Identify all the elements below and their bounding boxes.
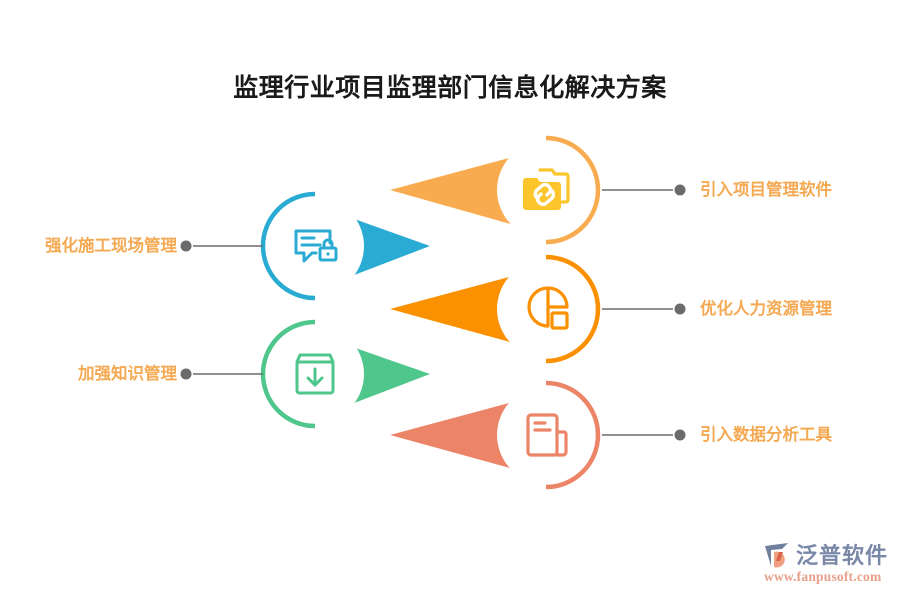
logo-url: www.fanpusoft.com — [764, 569, 881, 585]
circle-body-salmon — [497, 386, 595, 484]
label-left-1: 强化施工现场管理 — [45, 238, 177, 255]
connector-left-2 — [181, 369, 264, 380]
label-right-2: 优化人力资源管理 — [700, 301, 832, 318]
page-title: 监理行业项目监理部门信息化解决方案 — [0, 68, 900, 104]
connector-left-1 — [181, 241, 264, 252]
logo-mark-icon — [762, 540, 792, 570]
connector-right-2 — [602, 304, 686, 315]
infographic-canvas: 监理行业项目监理部门信息化解决方案 强化施工现场管理 加强知识管理 引入项目管理… — [0, 0, 900, 600]
label-right-3: 引入数据分析工具 — [700, 427, 832, 444]
connector-right-1 — [602, 185, 686, 196]
label-left-2: 加强知识管理 — [78, 366, 177, 383]
brand-logo: 泛普软件 www.fanpusoft.com — [762, 538, 894, 594]
logo-name: 泛普软件 — [796, 538, 888, 570]
circle-body-orange — [497, 260, 595, 358]
label-right-1: 引入项目管理软件 — [700, 182, 832, 199]
connector-right-3 — [602, 430, 686, 441]
